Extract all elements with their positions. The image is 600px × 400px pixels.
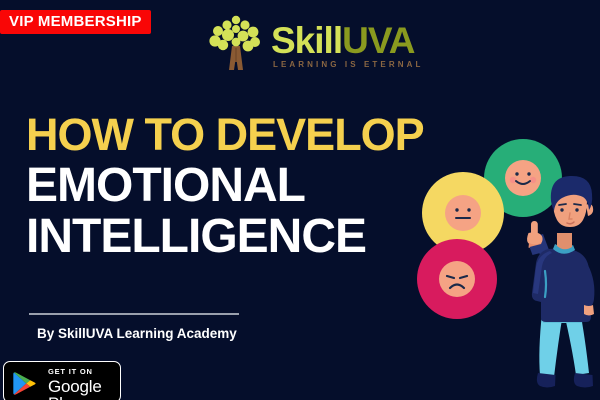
logo-wordmark: SkillUVA: [271, 22, 414, 59]
sad-emoji-face: [439, 261, 475, 297]
headline-block: HOW TO DEVELOP EMOTIONAL INTELLIGENCE: [26, 112, 476, 262]
vip-membership-badge: VIP MEMBERSHIP: [0, 10, 151, 34]
logo-word-secondary: UVA: [342, 20, 414, 61]
logo-tagline: LEARNING IS ETERNAL: [273, 60, 423, 69]
logo-word-primary: Skill: [271, 20, 342, 61]
character-right-shoe: [574, 373, 593, 388]
headline-line-3: INTELLIGENCE: [26, 213, 476, 262]
sad-face-icon: [439, 261, 475, 297]
tree-icon: [205, 14, 267, 76]
google-play-store-name: Google Play: [48, 378, 120, 400]
pointing-man-illustration: [512, 165, 600, 400]
neutral-face-icon: [445, 195, 481, 231]
character-right-hand: [584, 305, 594, 316]
google-play-icon: [13, 371, 37, 396]
google-play-label: GET IT ON Google Play: [48, 368, 120, 400]
google-play-get-it-on: GET IT ON: [48, 368, 120, 376]
byline-text: By SkillUVA Learning Academy: [37, 326, 237, 341]
byline-divider: [29, 313, 239, 315]
character-neck: [557, 233, 572, 249]
sad-emoji: [417, 239, 497, 319]
character-left-shoe: [537, 373, 556, 388]
headline-line-1: HOW TO DEVELOP: [26, 112, 476, 158]
neutral-emoji-face: [445, 195, 481, 231]
poster-canvas: VIP MEMBERSHIP SkillUVA LEARNING IS ETER…: [0, 0, 600, 400]
google-play-badge[interactable]: GET IT ON Google Play: [3, 361, 121, 400]
brand-logo: SkillUVA LEARNING IS ETERNAL: [205, 14, 405, 78]
headline-line-2: EMOTIONAL: [26, 162, 476, 211]
